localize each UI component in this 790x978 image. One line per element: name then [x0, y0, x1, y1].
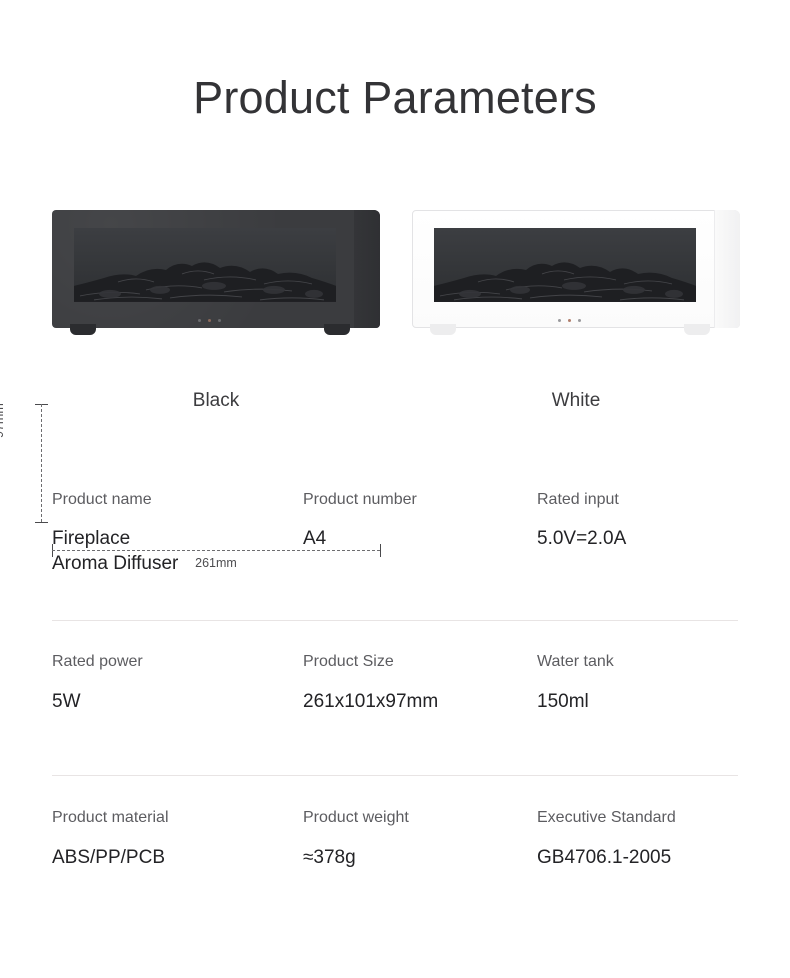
spec-label: Product weight: [303, 808, 537, 828]
spec-cell-product-size: Product Size 261x101x97mm: [303, 652, 537, 714]
control-dot-3[interactable]: [218, 319, 221, 322]
spec-label: Product material: [52, 808, 303, 828]
control-dot-2[interactable]: [568, 319, 571, 322]
spec-cell-product-number: Product number A4: [303, 490, 537, 576]
specifications-table: Product name Fireplace Aroma Diffuser Pr…: [0, 490, 790, 576]
page-title: Product Parameters: [0, 72, 790, 124]
spec-value: 261x101x97mm: [303, 689, 537, 714]
spec-value: 150ml: [537, 689, 738, 714]
spec-cell-rated-input: Rated input 5.0V=2.0A: [537, 490, 738, 576]
product-caption-black: Black: [52, 390, 380, 412]
control-dot-1[interactable]: [558, 319, 561, 322]
unit-foot-left: [430, 324, 456, 335]
control-dot-3[interactable]: [578, 319, 581, 322]
spec-cell-product-name: Product name Fireplace Aroma Diffuser: [52, 490, 303, 576]
spec-cell-water-tank: Water tank 150ml: [537, 652, 738, 714]
spec-label: Executive Standard: [537, 808, 738, 828]
spec-cell-executive-standard: Executive Standard GB4706.1-2005: [537, 808, 738, 870]
product-image-white: [412, 210, 740, 328]
unit-foot-right: [324, 324, 350, 335]
control-buttons-white[interactable]: [558, 319, 581, 322]
spec-value: A4: [303, 526, 537, 551]
product-image-black: [52, 210, 380, 328]
row-divider-2: [52, 775, 738, 776]
control-dot-2[interactable]: [208, 319, 211, 322]
control-dot-1[interactable]: [198, 319, 201, 322]
spec-cell-product-weight: Product weight ≈378g: [303, 808, 537, 870]
unit-foot-left: [70, 324, 96, 335]
spec-value: 5.0V=2.0A: [537, 526, 738, 551]
spec-label: Product name: [52, 490, 303, 510]
product-parameters-page: Product Parameters 97mm: [0, 0, 790, 978]
spec-value: ≈378g: [303, 845, 537, 870]
row-divider-1: [52, 620, 738, 621]
fireplace-cavity-white: [434, 228, 696, 302]
spec-value: GB4706.1-2005: [537, 845, 738, 870]
unit-side-panel-white: [714, 210, 740, 328]
spec-row-1: Product name Fireplace Aroma Diffuser Pr…: [0, 490, 790, 576]
spec-cell-rated-power: Rated power 5W: [52, 652, 303, 714]
spec-label: Product Size: [303, 652, 537, 672]
spec-row-3: Product material ABS/PP/PCB Product weig…: [0, 808, 790, 870]
spec-label: Product number: [303, 490, 537, 510]
spec-label: Rated input: [537, 490, 738, 510]
spec-label: Rated power: [52, 652, 303, 672]
spec-row-2: Rated power 5W Product Size 261x101x97mm…: [0, 652, 790, 714]
spec-value: Fireplace Aroma Diffuser: [52, 526, 303, 576]
unit-foot-right: [684, 324, 710, 335]
control-buttons-black[interactable]: [198, 319, 221, 322]
spec-cell-product-material: Product material ABS/PP/PCB: [52, 808, 303, 870]
spec-label: Water tank: [537, 652, 738, 672]
log-pile-icon: [434, 256, 696, 302]
spec-value: 5W: [52, 689, 303, 714]
product-caption-white: White: [412, 390, 740, 412]
fireplace-cavity-black: [74, 228, 336, 302]
log-pile-icon: [74, 256, 336, 302]
spec-value: ABS/PP/PCB: [52, 845, 303, 870]
height-dimension-label: 97mm: [0, 403, 6, 438]
unit-side-panel-black: [354, 210, 380, 328]
